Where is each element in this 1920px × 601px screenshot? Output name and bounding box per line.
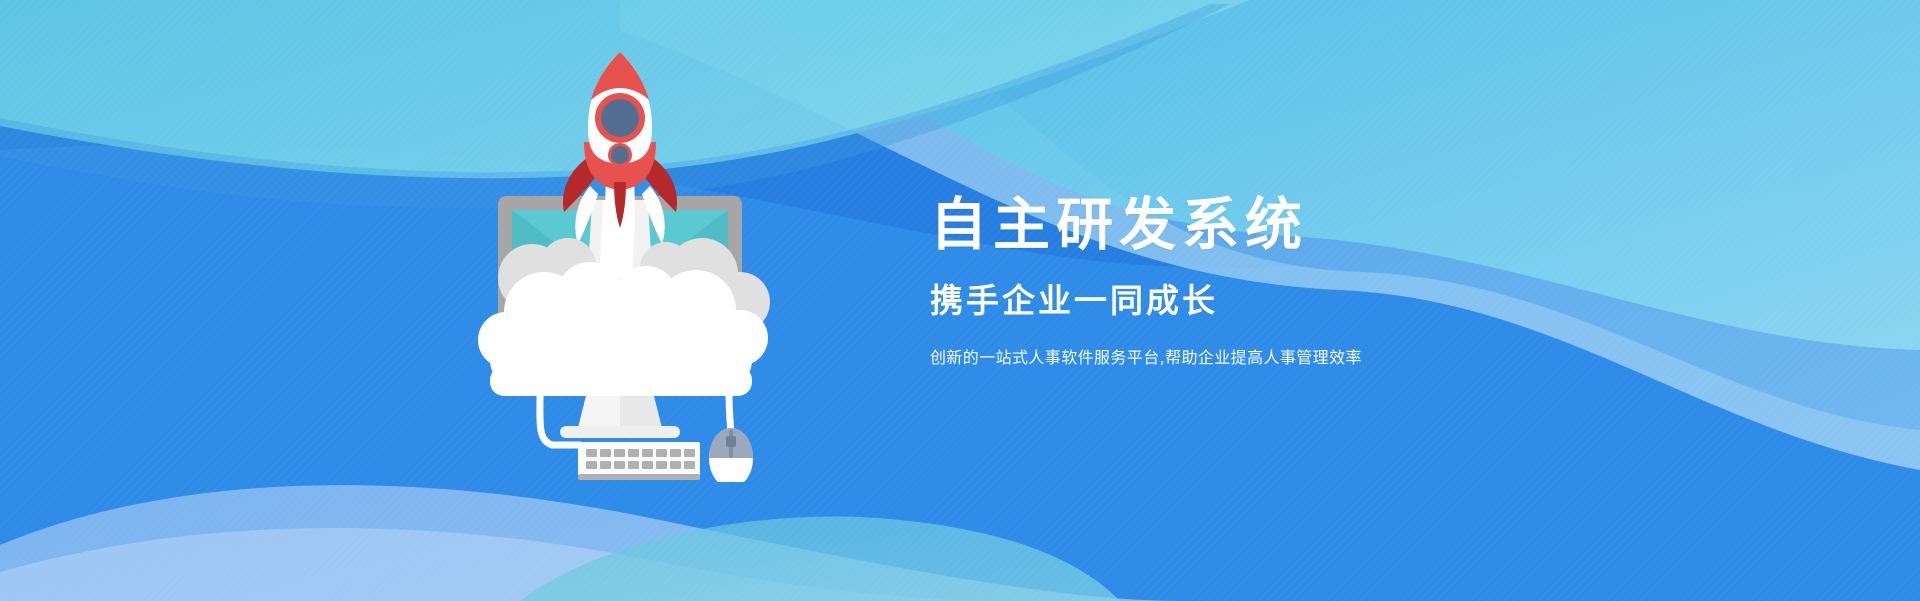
banner-copy: 自主研发系统 携手企业一同成长 创新的一站式人事软件服务平台,帮助企业提高人事管…: [930, 195, 1730, 369]
rocket-porthole-small-glass: [611, 146, 629, 164]
rocket-monitor-illustration: [440, 30, 800, 482]
banner-headline: 自主研发系统: [930, 195, 1730, 257]
keyboard-icon: [578, 442, 700, 480]
banner-tagline: 创新的一站式人事软件服务平台,帮助企业提高人事管理效率: [930, 348, 1730, 369]
keyboard-body: [578, 442, 700, 476]
monitor-stand-base: [560, 426, 680, 438]
hero-banner: 自主研发系统 携手企业一同成长 创新的一站式人事软件服务平台,帮助企业提高人事管…: [0, 0, 1920, 601]
rocket-porthole-glass: [601, 99, 639, 137]
cloud-base-skirt: [490, 366, 752, 396]
mouse-icon: [709, 428, 753, 482]
keyboard-edge: [578, 474, 700, 480]
banner-subheadline: 携手企业一同成长: [930, 283, 1730, 319]
mouse-scroll-wheel: [726, 436, 736, 447]
